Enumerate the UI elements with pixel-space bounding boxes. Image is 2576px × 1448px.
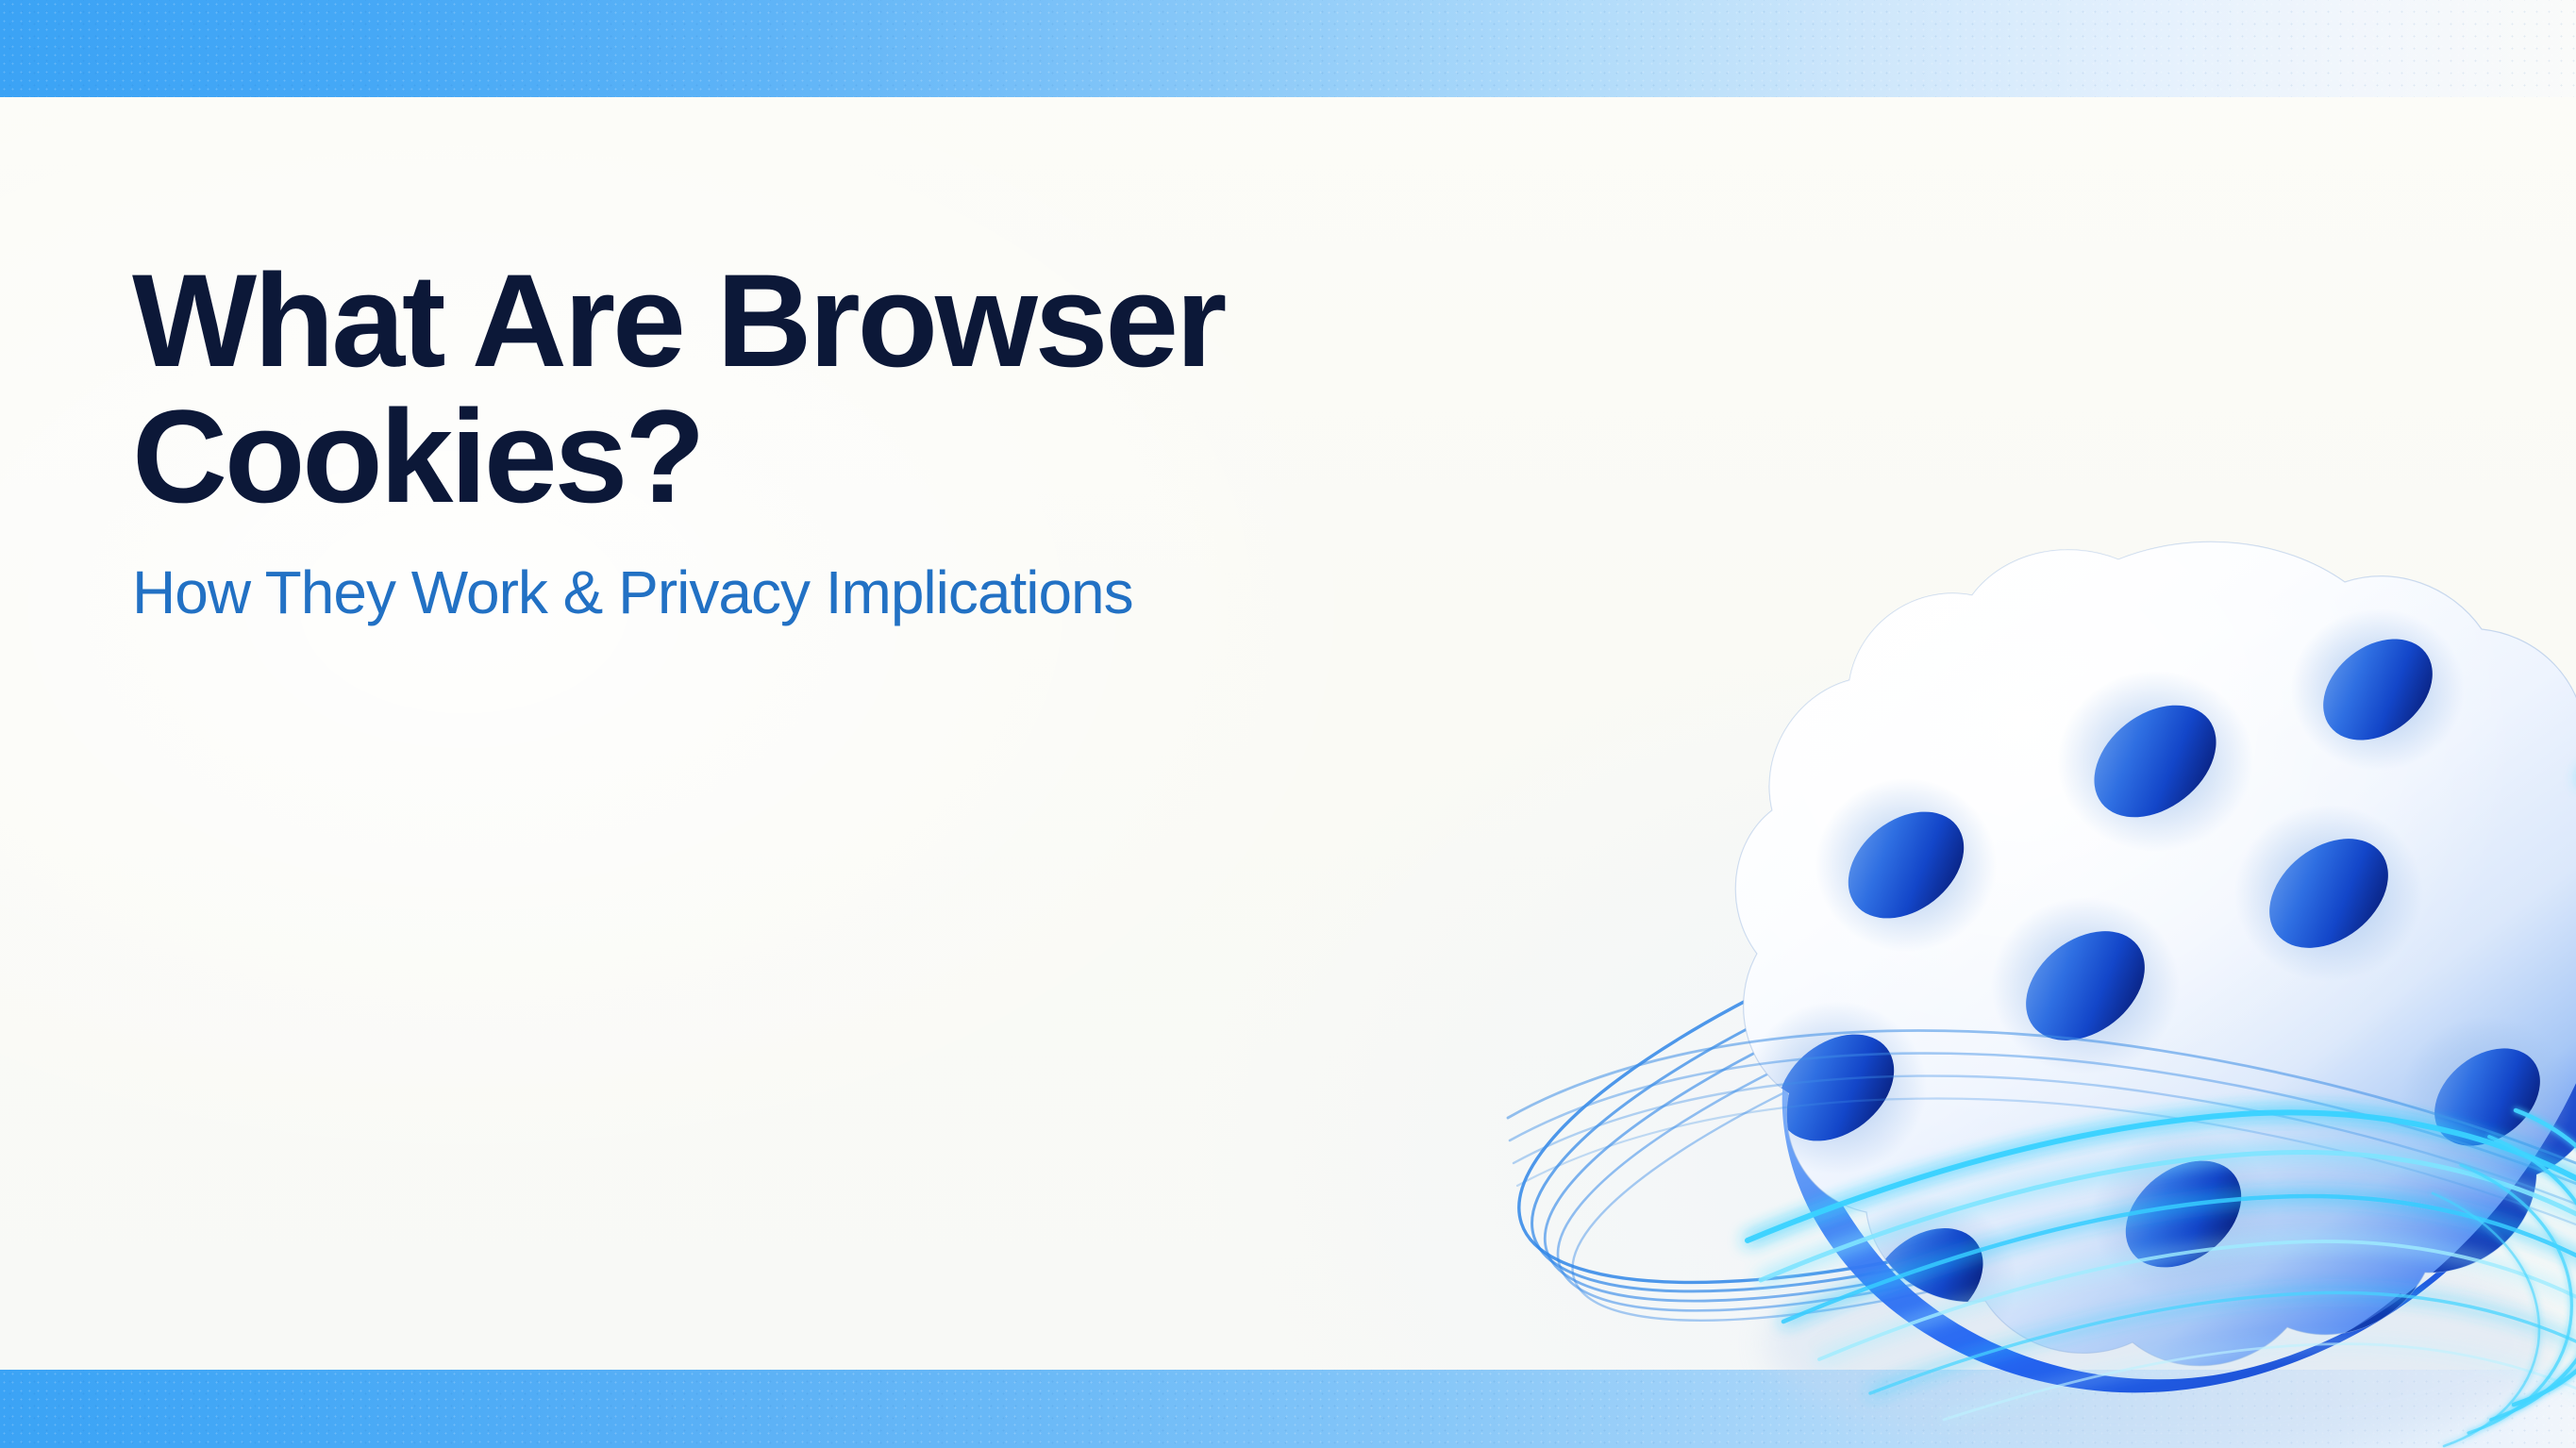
cookie-highlight-sheen	[1735, 541, 2576, 1365]
orbital-rings-front	[1508, 1031, 2576, 1235]
bottom-accent-band	[0, 1370, 2576, 1448]
page-title: What Are Browser Cookies?	[132, 253, 1831, 524]
top-band-speckle	[0, 0, 2576, 97]
hero-text-block: What Are Browser Cookies? How They Work …	[132, 253, 1831, 625]
orbital-rings-back	[1470, 704, 2576, 1405]
cookie-underside	[1782, 1031, 2576, 1392]
top-accent-band	[0, 0, 2576, 97]
background-texture	[0, 0, 2576, 1448]
chip-group	[1758, 618, 2559, 1353]
cookie-chips	[1746, 608, 2574, 1365]
bottom-band-speckle	[0, 1370, 2576, 1448]
cookie-body	[1735, 541, 2576, 1365]
chip-well-group	[1746, 608, 2574, 1365]
browser-cookie-3d-illustration	[1500, 514, 2576, 1448]
banner-canvas: What Are Browser Cookies? How They Work …	[0, 0, 2576, 1448]
page-subtitle: How They Work & Privacy Implications	[132, 560, 1831, 625]
